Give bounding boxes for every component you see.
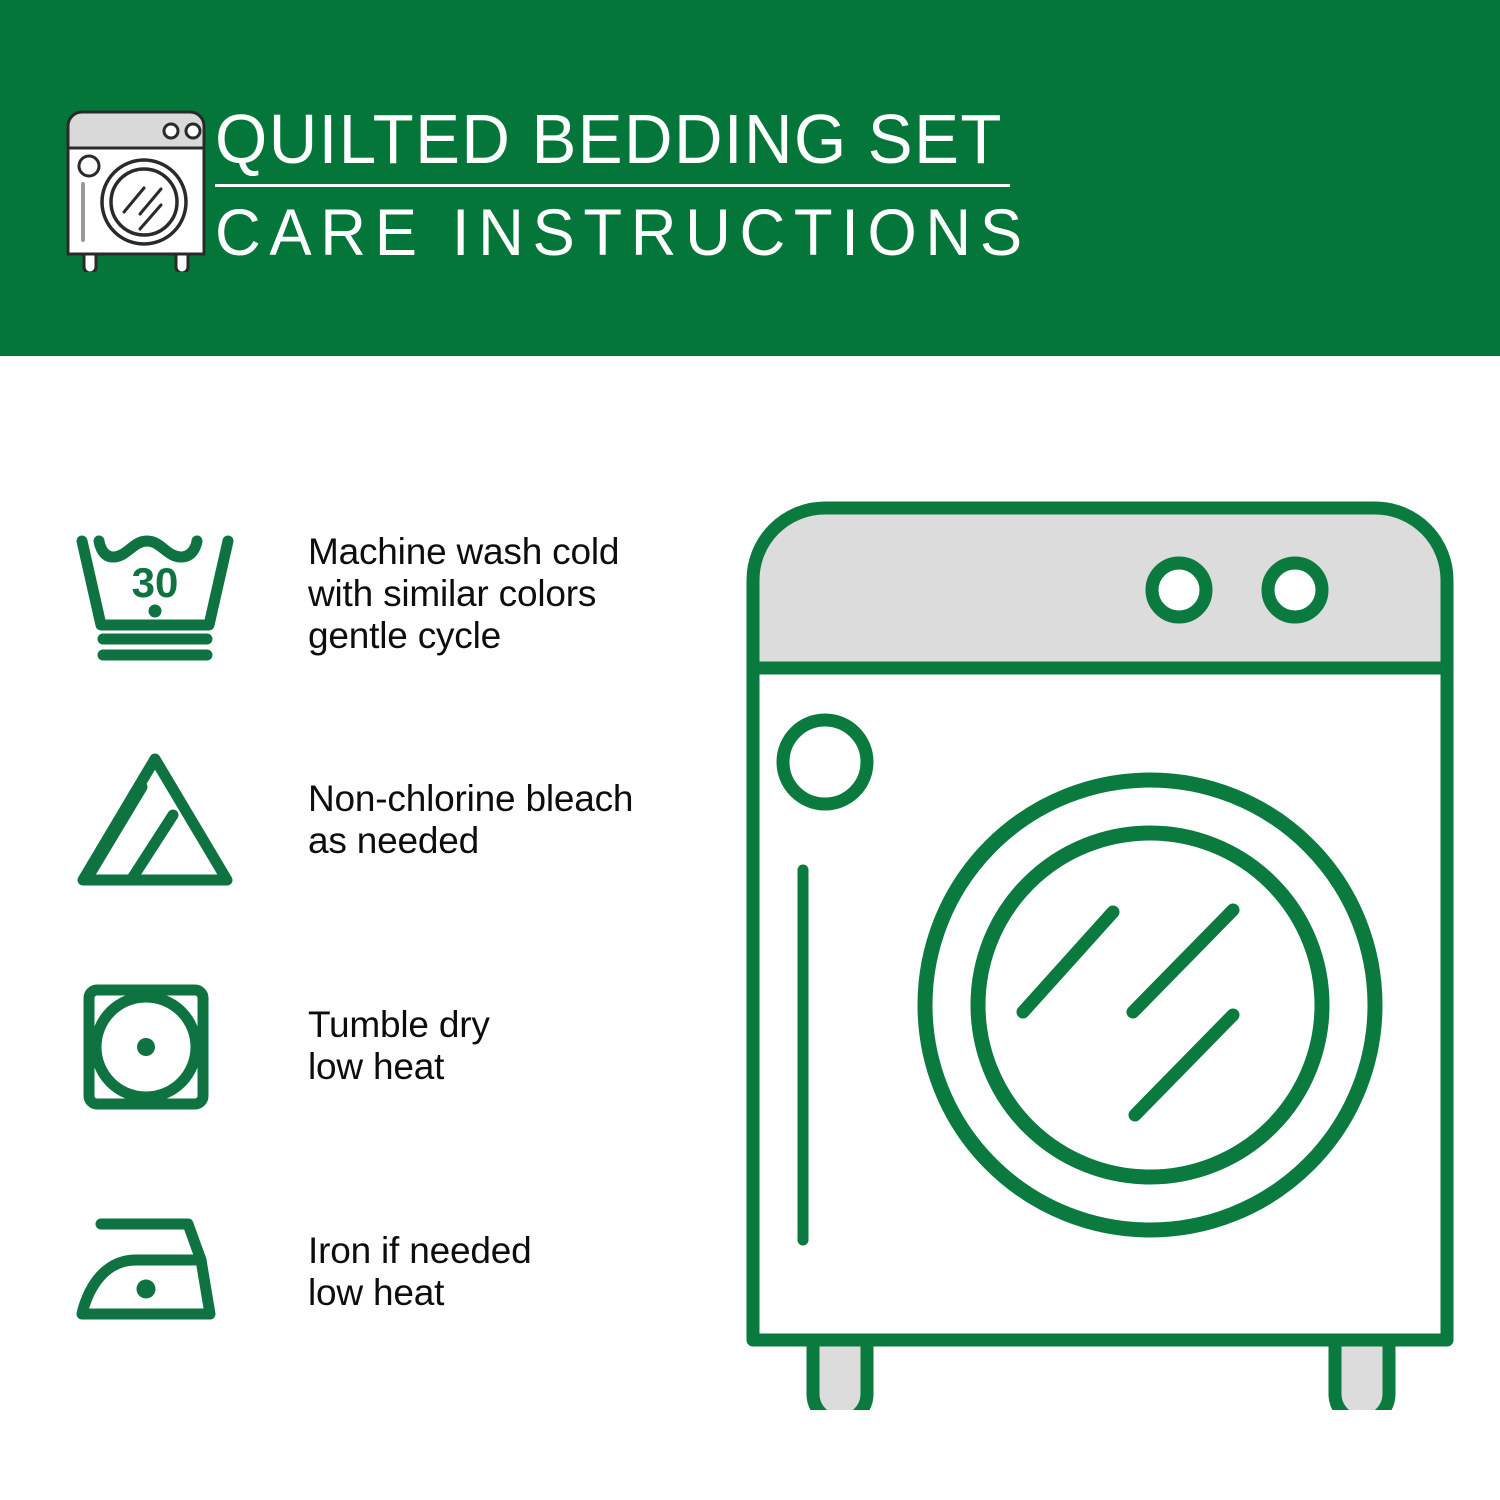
wash-tub-30-gentle-icon: 30 bbox=[70, 514, 248, 674]
care-row-wash: 30 Machine wash cold with similar colors… bbox=[70, 505, 710, 683]
non-chlorine-bleach-triangle-icon bbox=[70, 740, 248, 900]
care-label-tumble-dry: Tumble dry low heat bbox=[248, 1004, 490, 1088]
control-knob bbox=[1152, 563, 1206, 617]
control-knob bbox=[1268, 563, 1322, 617]
care-instructions-page: QUILTED BEDDING SET CARE INSTRUCTIONS bbox=[0, 0, 1500, 1500]
title-divider bbox=[215, 184, 1010, 187]
care-label-wash: Machine wash cold with similar colors ge… bbox=[248, 531, 619, 657]
care-label-line: with similar colors bbox=[308, 573, 619, 615]
care-label-iron: Iron if needed low heat bbox=[248, 1230, 531, 1314]
care-label-line: Non-chlorine bleach bbox=[308, 778, 633, 820]
page-title: QUILTED BEDDING SET bbox=[215, 100, 1002, 178]
tumble-dry-low-icon bbox=[70, 966, 248, 1126]
wash-temperature-value: 30 bbox=[132, 559, 179, 606]
machine-leg bbox=[813, 1340, 867, 1410]
front-load-washing-machine-illustration bbox=[745, 500, 1455, 1410]
machine-leg bbox=[1335, 1340, 1389, 1410]
washing-machine-icon bbox=[62, 104, 210, 272]
care-label-bleach: Non-chlorine bleach as needed bbox=[248, 778, 633, 862]
care-row-iron: Iron if needed low heat bbox=[70, 1183, 710, 1361]
page-subtitle: CARE INSTRUCTIONS bbox=[215, 196, 1002, 268]
care-row-tumble-dry: Tumble dry low heat bbox=[70, 957, 710, 1135]
care-label-line: Tumble dry bbox=[308, 1004, 490, 1046]
care-row-bleach: Non-chlorine bleach as needed bbox=[70, 731, 710, 909]
care-label-line: Machine wash cold bbox=[308, 531, 619, 573]
header-title-block: QUILTED BEDDING SET CARE INSTRUCTIONS bbox=[215, 100, 1035, 268]
care-label-line: as needed bbox=[308, 820, 633, 862]
care-instruction-list: 30 Machine wash cold with similar colors… bbox=[70, 505, 710, 1361]
care-label-line: gentle cycle bbox=[308, 615, 619, 657]
care-label-line: Iron if needed bbox=[308, 1230, 531, 1272]
iron-low-heat-icon bbox=[70, 1192, 248, 1352]
care-label-line: low heat bbox=[308, 1046, 490, 1088]
header-banner: QUILTED BEDDING SET CARE INSTRUCTIONS bbox=[0, 0, 1500, 356]
care-label-line: low heat bbox=[308, 1272, 531, 1314]
